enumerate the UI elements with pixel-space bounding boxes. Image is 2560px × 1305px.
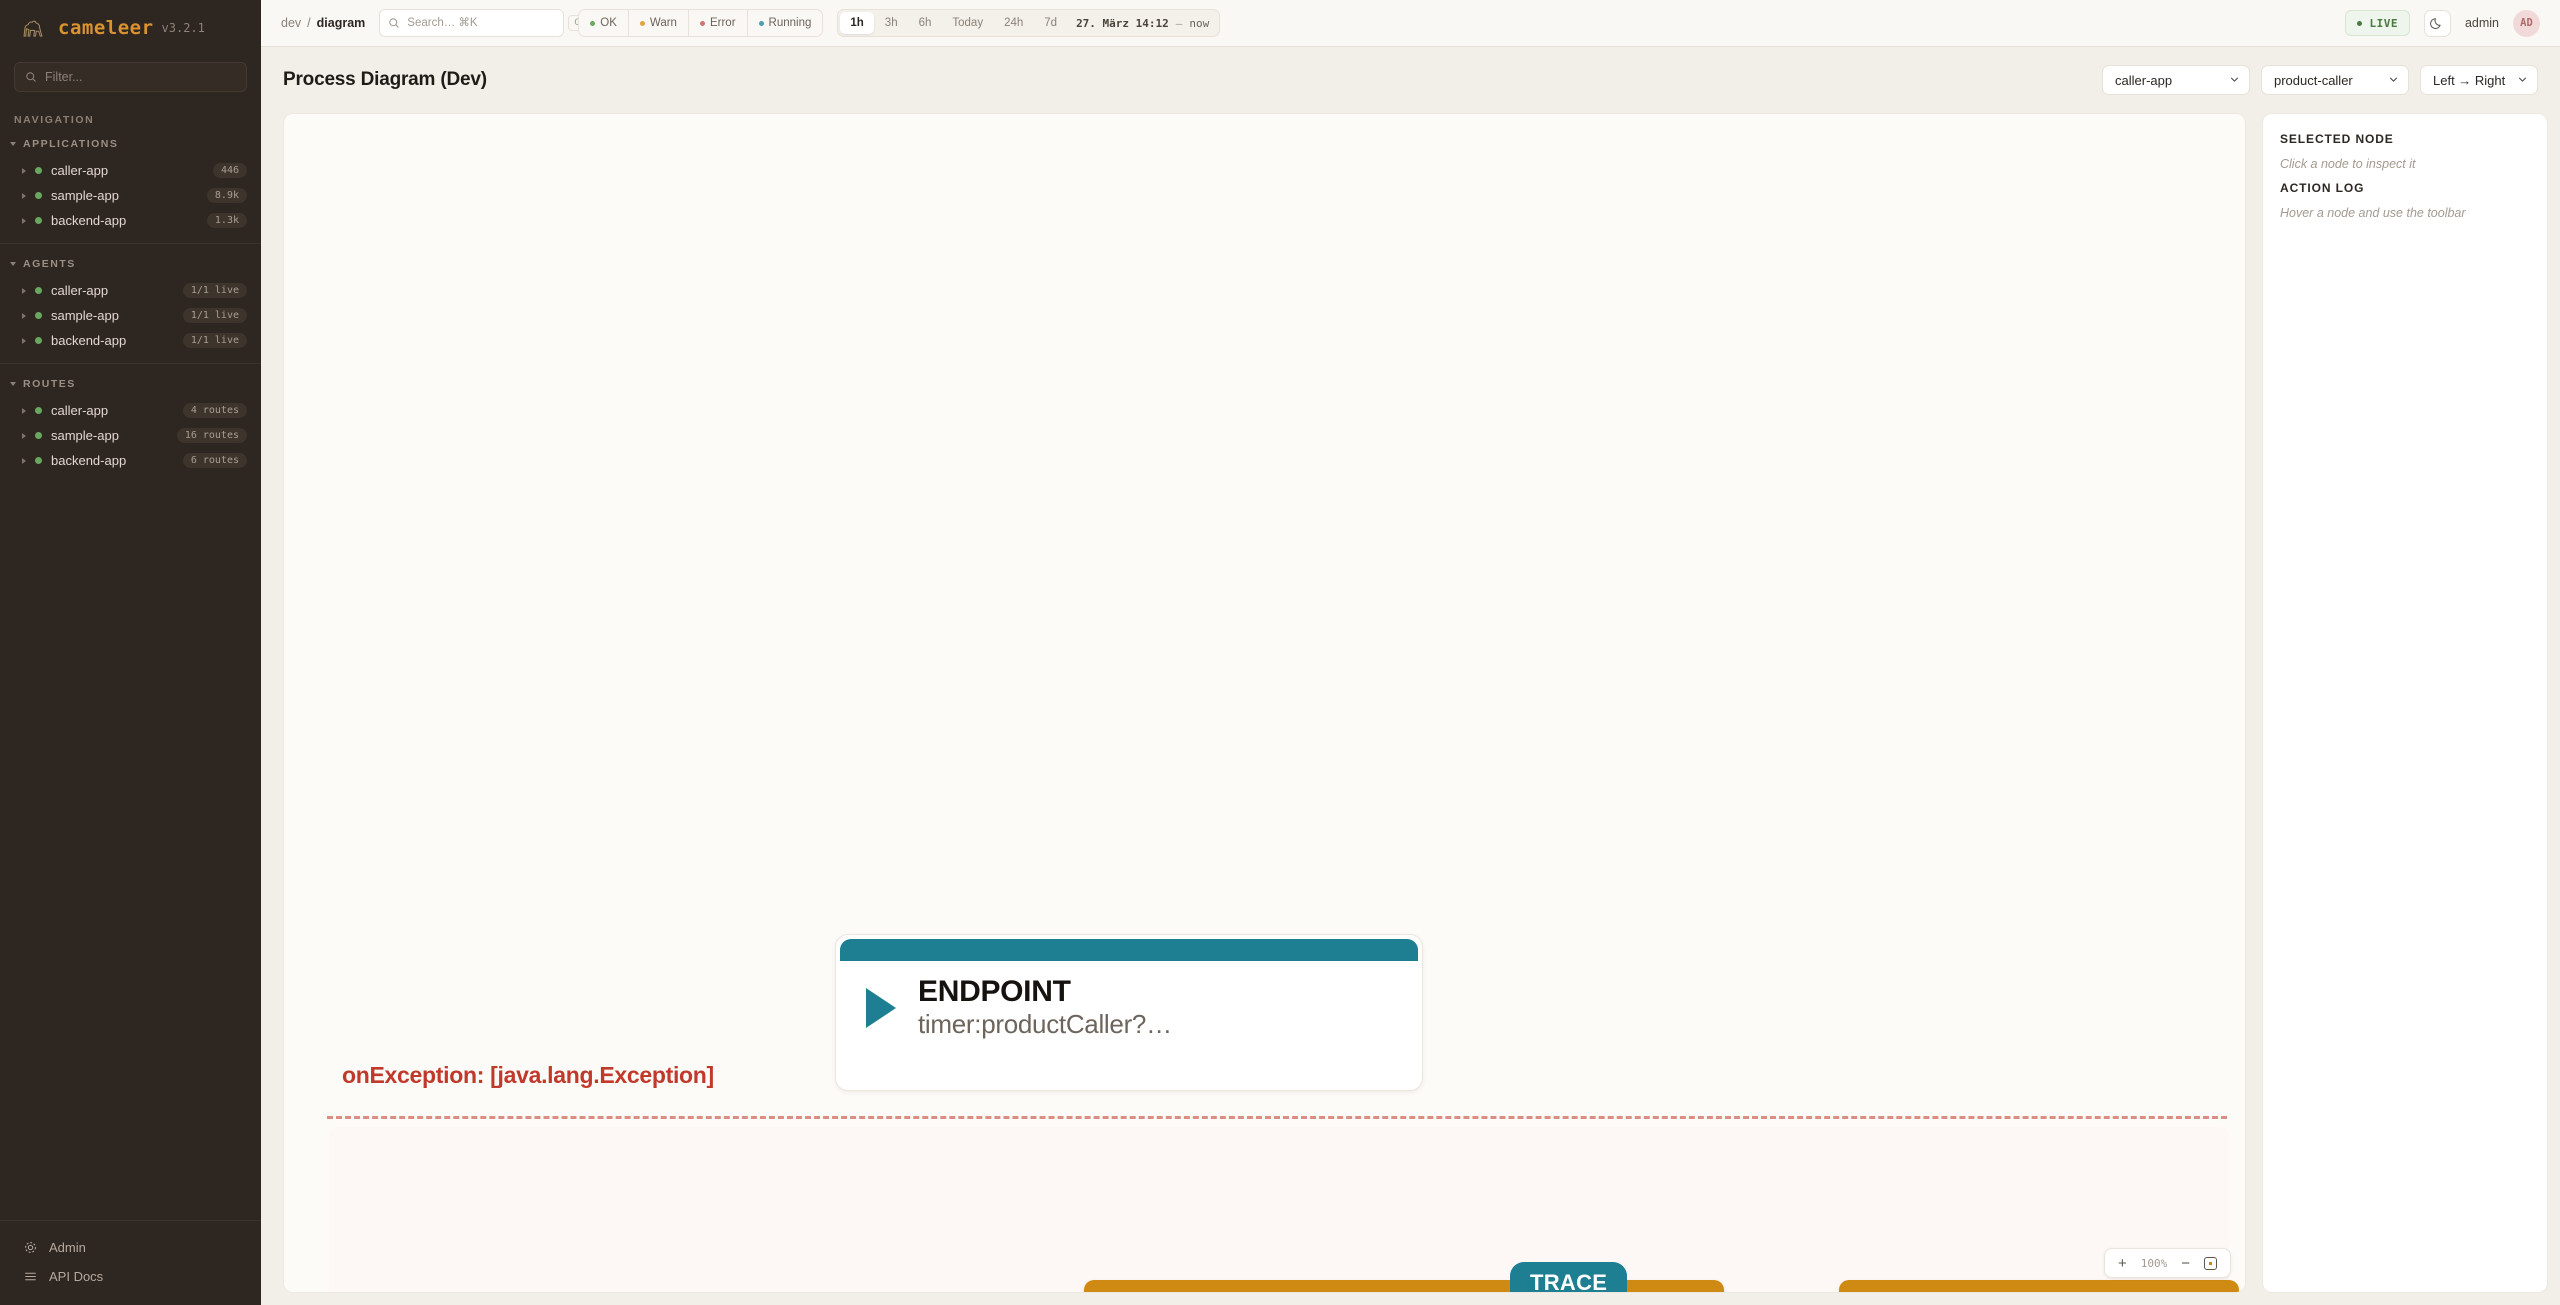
status-dot	[35, 167, 42, 174]
chevron-right-icon	[22, 218, 26, 224]
range-from: 27. März 14:12	[1076, 17, 1169, 30]
item-label: sample-app	[51, 308, 174, 323]
zoom-toolbar: + 100% −	[2104, 1248, 2231, 1278]
item-label: caller-app	[51, 163, 204, 178]
chevron-down-icon	[2389, 75, 2398, 84]
status-filter-group: OK Warn Error Running	[578, 9, 823, 37]
navigation-heading: NAVIGATION	[0, 106, 261, 136]
item-label: backend-app	[51, 453, 174, 468]
node-uri: timer:productCaller?…	[918, 1008, 1172, 1041]
chip-label: OK	[600, 17, 617, 29]
select-value: Left → Right	[2433, 73, 2505, 88]
range-7d[interactable]: 7d	[1034, 12, 1067, 34]
play-icon	[866, 988, 896, 1028]
status-dot	[35, 287, 42, 294]
status-dot	[2357, 21, 2362, 26]
status-chip-ok[interactable]: OK	[579, 10, 629, 36]
chevron-right-icon	[22, 433, 26, 439]
exception-label: onException: [java.lang.Exception]	[342, 1062, 714, 1089]
node-body: ENDPOINT timer:productCaller?…	[836, 961, 1422, 1041]
process-lane-a[interactable]	[1084, 1280, 1724, 1293]
breadcrumb-separator: /	[307, 16, 310, 30]
chevron-right-icon	[22, 408, 26, 414]
sidebar-group-routes: ROUTES caller-app 4 routes sample-app 16…	[0, 363, 261, 483]
zoom-in-button[interactable]: +	[2118, 1256, 2127, 1271]
range-to: now	[1189, 17, 1209, 30]
item-badge: 446	[213, 163, 247, 178]
breadcrumb: dev / diagram	[281, 16, 365, 30]
selected-node-hint: Click a node to inspect it	[2280, 157, 2530, 171]
status-dot	[640, 21, 645, 26]
status-dot	[35, 457, 42, 464]
item-badge: 1/1 live	[183, 333, 247, 348]
top-toolbar: dev / diagram Ctrl+K OK Warn Error Runni…	[261, 0, 2560, 47]
diagram-canvas[interactable]: ENDPOINT timer:productCaller?… onExcepti…	[283, 113, 2246, 1293]
group-label: ROUTES	[23, 378, 76, 390]
brand-name: cameleer	[58, 17, 154, 39]
sidebar-group-agents: AGENTS caller-app 1/1 live sample-app 1/…	[0, 243, 261, 363]
sidebar-item-agents-sample-app[interactable]: sample-app 1/1 live	[0, 303, 261, 328]
status-dot	[35, 337, 42, 344]
chevron-right-icon	[22, 168, 26, 174]
route-select[interactable]: product-caller	[2261, 65, 2409, 95]
status-chip-running[interactable]: Running	[748, 10, 823, 36]
search-input[interactable]	[407, 17, 561, 29]
exception-zone	[329, 1127, 2229, 1293]
select-value: caller-app	[2115, 73, 2172, 88]
sidebar-item-applications-backend-app[interactable]: backend-app 1.3k	[0, 208, 261, 233]
status-dot	[35, 192, 42, 199]
chevron-right-icon	[22, 193, 26, 199]
status-dot	[700, 21, 705, 26]
item-badge: 6 routes	[183, 453, 247, 468]
group-toggle-agents[interactable]: AGENTS	[0, 256, 261, 278]
item-badge: 1/1 live	[183, 283, 247, 298]
selected-node-title: SELECTED NODE	[2280, 132, 2530, 146]
group-toggle-applications[interactable]: APPLICATIONS	[0, 136, 261, 158]
range-3h[interactable]: 3h	[875, 12, 908, 34]
application-select[interactable]: caller-app	[2102, 65, 2250, 95]
sidebar-item-applications-sample-app[interactable]: sample-app 8.9k	[0, 183, 261, 208]
time-range-display[interactable]: 27. März 14:12 – now	[1068, 17, 1217, 30]
item-label: backend-app	[51, 213, 198, 228]
sidebar-item-agents-caller-app[interactable]: caller-app 1/1 live	[0, 278, 261, 303]
sidebar-item-routes-sample-app[interactable]: sample-app 16 routes	[0, 423, 261, 448]
node-text: ENDPOINT timer:productCaller?…	[918, 975, 1172, 1041]
chip-label: Running	[769, 17, 812, 29]
avatar[interactable]: AD	[2513, 10, 2540, 37]
direction-select[interactable]: Left → Right	[2420, 65, 2538, 95]
page-header: Process Diagram (Dev) caller-app product…	[261, 47, 2560, 113]
range-today[interactable]: Today	[942, 12, 993, 34]
theme-toggle-button[interactable]	[2424, 10, 2451, 37]
diagram-controls: caller-app product-caller Left → Right	[2102, 65, 2538, 95]
status-dot	[35, 407, 42, 414]
sidebar-filter	[0, 56, 261, 106]
item-badge: 16 routes	[177, 428, 247, 443]
range-24h[interactable]: 24h	[994, 12, 1033, 34]
sidebar-item-label: Admin	[49, 1240, 86, 1255]
node-header-bar	[840, 939, 1418, 961]
item-label: sample-app	[51, 188, 198, 203]
menu-icon	[24, 1270, 37, 1283]
sidebar-item-label: API Docs	[49, 1269, 103, 1284]
breadcrumb-root[interactable]: dev	[281, 16, 301, 30]
node-kind: ENDPOINT	[918, 975, 1172, 1008]
item-label: backend-app	[51, 333, 174, 348]
diagram-node-endpoint[interactable]: ENDPOINT timer:productCaller?…	[835, 934, 1423, 1091]
item-label: caller-app	[51, 283, 174, 298]
item-badge: 8.9k	[207, 188, 247, 203]
item-label: sample-app	[51, 428, 168, 443]
user-name: admin	[2465, 16, 2499, 30]
status-dot	[35, 312, 42, 319]
chip-label: Warn	[650, 17, 677, 29]
sidebar-item-applications-caller-app[interactable]: caller-app 446	[0, 158, 261, 183]
camel-icon	[20, 16, 46, 40]
group-label: AGENTS	[23, 258, 76, 270]
live-label: LIVE	[2369, 17, 2398, 30]
chevron-right-icon	[22, 313, 26, 319]
sidebar-group-applications: APPLICATIONS caller-app 446 sample-app 8…	[0, 136, 261, 243]
time-range-group: 1h 3h 6h Today 24h 7d 27. März 14:12 – n…	[837, 9, 1220, 37]
search-icon	[388, 17, 400, 29]
status-dot	[35, 217, 42, 224]
trace-badge[interactable]: TRACE	[1510, 1262, 1627, 1293]
range-6h[interactable]: 6h	[909, 12, 942, 34]
process-lane-b[interactable]	[1839, 1280, 2239, 1293]
global-search[interactable]: Ctrl+K	[379, 9, 564, 37]
sidebar-item-routes-backend-app[interactable]: backend-app 6 routes	[0, 448, 261, 473]
sidebar-item-admin[interactable]: Admin	[0, 1233, 261, 1262]
chevron-down-icon	[2518, 75, 2527, 84]
status-dot	[590, 21, 595, 26]
item-badge: 1.3k	[207, 213, 247, 228]
item-badge: 1/1 live	[183, 308, 247, 323]
filter-box[interactable]	[14, 62, 247, 92]
sidebar-item-api-docs[interactable]: API Docs	[0, 1262, 261, 1291]
gear-icon	[24, 1241, 37, 1254]
chip-label: Error	[710, 17, 736, 29]
item-label: caller-app	[51, 403, 174, 418]
brand-logo[interactable]: cameleer v3.2.1	[0, 0, 261, 56]
chevron-down-icon	[10, 382, 16, 386]
status-chip-warn[interactable]: Warn	[629, 10, 689, 36]
group-toggle-routes[interactable]: ROUTES	[0, 376, 261, 398]
exception-divider	[327, 1116, 2227, 1119]
search-icon	[25, 71, 37, 83]
filter-input[interactable]	[45, 70, 236, 84]
range-dash: –	[1176, 17, 1183, 30]
chevron-right-icon	[22, 458, 26, 464]
sidebar: cameleer v3.2.1 NAVIGATION APPLICATIONS …	[0, 0, 261, 1305]
group-label: APPLICATIONS	[23, 138, 118, 150]
page-title: Process Diagram (Dev)	[283, 69, 487, 91]
moon-icon	[2430, 16, 2444, 30]
action-log-title: ACTION LOG	[2280, 181, 2530, 195]
status-chip-error[interactable]: Error	[689, 10, 748, 36]
chevron-right-icon	[22, 288, 26, 294]
brand-version: v3.2.1	[162, 21, 205, 35]
range-1h[interactable]: 1h	[840, 12, 873, 34]
select-value: product-caller	[2274, 73, 2353, 88]
sidebar-item-agents-backend-app[interactable]: backend-app 1/1 live	[0, 328, 261, 353]
chevron-right-icon	[22, 338, 26, 344]
status-dot	[759, 21, 764, 26]
live-status-badge[interactable]: LIVE	[2345, 10, 2410, 36]
breadcrumb-current: diagram	[317, 16, 366, 30]
status-dot	[35, 432, 42, 439]
zoom-out-button[interactable]: −	[2181, 1256, 2190, 1271]
chevron-down-icon	[10, 142, 16, 146]
action-log-hint: Hover a node and use the toolbar	[2280, 206, 2530, 220]
chevron-down-icon	[10, 262, 16, 266]
zoom-level: 100%	[2141, 1257, 2168, 1270]
sidebar-item-routes-caller-app[interactable]: caller-app 4 routes	[0, 398, 261, 423]
item-badge: 4 routes	[183, 403, 247, 418]
chevron-down-icon	[2230, 75, 2239, 84]
sidebar-footer: Admin API Docs	[0, 1220, 261, 1305]
fit-to-screen-icon[interactable]	[2204, 1257, 2217, 1270]
inspector-panel: SELECTED NODE Click a node to inspect it…	[2262, 113, 2548, 1293]
